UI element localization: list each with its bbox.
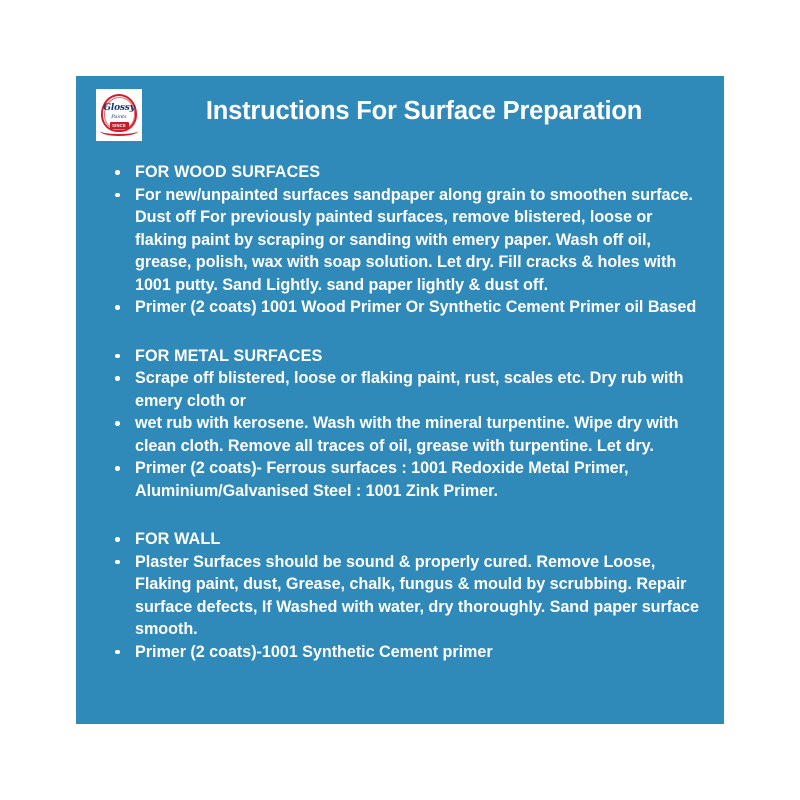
section-wood: FOR WOOD SURFACES For new/unpainted surf… — [114, 161, 706, 319]
instructions-content: FOR WOOD SURFACES For new/unpainted surf… — [114, 161, 706, 663]
list-item: FOR METAL SURFACES — [114, 345, 706, 368]
list-item: Primer (2 coats) 1001 Wood Primer Or Syn… — [114, 296, 706, 319]
instructions-panel: Glossy Paints SINCE Instructions For Sur… — [76, 76, 724, 724]
logo-swoosh-shape — [100, 126, 138, 136]
list-item: Plaster Surfaces should be sound & prope… — [114, 551, 706, 641]
section-metal: FOR METAL SURFACES Scrape off blistered,… — [114, 345, 706, 503]
list-item: Primer (2 coats)-1001 Synthetic Cement p… — [114, 641, 706, 664]
list-item: FOR WALL — [114, 528, 706, 551]
panel-header: Glossy Paints SINCE Instructions For Sur… — [76, 76, 724, 148]
list-item: For new/unpainted surfaces sandpaper alo… — [114, 184, 706, 297]
list-item: Scrape off blistered, loose or flaking p… — [114, 367, 706, 412]
metal-bullet-list: FOR METAL SURFACES Scrape off blistered,… — [114, 345, 706, 503]
list-item: FOR WOOD SURFACES — [114, 161, 706, 184]
wood-bullet-list: FOR WOOD SURFACES For new/unpainted surf… — [114, 161, 706, 319]
section-wall: FOR WALL Plaster Surfaces should be soun… — [114, 528, 706, 663]
list-item: wet rub with kerosene. Wash with the min… — [114, 412, 706, 457]
page-root: Glossy Paints SINCE Instructions For Sur… — [0, 0, 800, 800]
page-title: Instructions For Surface Preparation — [76, 96, 724, 126]
wall-bullet-list: FOR WALL Plaster Surfaces should be soun… — [114, 528, 706, 663]
list-item: Primer (2 coats)- Ferrous surfaces : 100… — [114, 457, 706, 502]
